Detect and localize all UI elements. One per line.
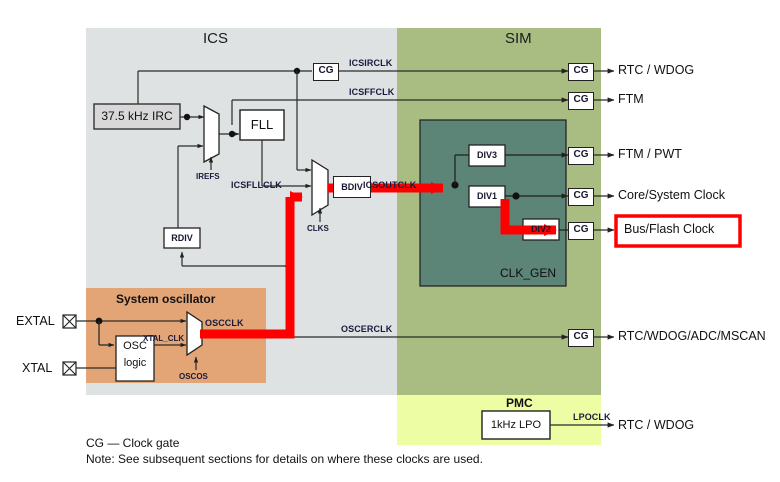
block-label-fll: FLL — [240, 110, 284, 140]
signal-label-icsirclk: ICSIRCLK — [349, 58, 392, 68]
clock-gate-icsirclk-source[interactable]: CG — [313, 63, 339, 81]
clock-gate-ftm-pwt[interactable]: CG — [568, 147, 594, 165]
clock-gate-rtc-wdog[interactable]: CG — [568, 63, 594, 81]
clock-diagram: CG CG CG CG CG CG CG ICS SIM PMC System … — [0, 0, 780, 482]
pin-label-extal: EXTAL — [16, 314, 55, 328]
footer-note: Note: See subsequent sections for detail… — [86, 452, 483, 466]
signal-label-icsoutclk: ICSOUTCLK — [363, 180, 416, 190]
clock-gate-rtc-wdog-adc-mscan[interactable]: CG — [568, 329, 594, 347]
signal-label-oscclk: OSCCLK — [205, 318, 244, 328]
mux-irefs — [204, 106, 219, 162]
region-title-ics: ICS — [203, 30, 228, 47]
signal-label-lpoclk: LPOCLK — [573, 412, 611, 422]
mux-select-label-irefs: IREFS — [196, 172, 220, 181]
pin-label-xtal: XTAL — [22, 361, 52, 375]
dest-pmc-rtc-wdog: RTC / WDOG — [618, 418, 694, 432]
block-label-div1: DIV1 — [469, 186, 505, 207]
signal-label-oscerclk: OSCERCLK — [341, 324, 392, 334]
mux-clks — [312, 160, 328, 215]
clock-gate-ftm[interactable]: CG — [568, 92, 594, 110]
block-label-lpo: 1kHz LPO — [482, 411, 550, 439]
region-title-clk-gen: CLK_GEN — [500, 266, 556, 280]
dest-rtc-wdog: RTC / WDOG — [618, 63, 694, 77]
block-label-div2: DIV2 — [523, 219, 559, 240]
clock-gate-core-system[interactable]: CG — [568, 188, 594, 206]
dest-bus-flash-clock: Bus/Flash Clock — [624, 222, 714, 236]
dest-ftm: FTM — [618, 92, 644, 106]
region-title-pmc: PMC — [506, 396, 533, 410]
mux-select-label-oscos: OSCOS — [179, 372, 208, 381]
footer-legend: CG — Clock gate — [86, 436, 179, 450]
dest-rtc-wdog-adc-mscan: RTC/WDOG/ADC/MSCAN — [618, 329, 766, 343]
clock-gate-bus-flash[interactable]: CG — [568, 222, 594, 240]
dest-core-system-clock: Core/System Clock — [618, 188, 725, 202]
signal-label-icsfllclk: ICSFLLCLK — [231, 180, 282, 190]
signal-label-icsffclk: ICSFFCLK — [349, 87, 394, 97]
block-label-div3: DIV3 — [469, 145, 505, 166]
dest-ftm-pwt: FTM / PWT — [618, 147, 682, 161]
region-title-sim: SIM — [505, 30, 532, 47]
block-label-rdiv: RDIV — [164, 228, 200, 248]
block-label-osc-logic-line2: logic — [116, 357, 154, 369]
block-label-irc: 37.5 kHz IRC — [94, 104, 180, 129]
signal-label-xtal-clk: XTAL_CLK — [143, 334, 184, 343]
region-title-system-oscillator: System oscillator — [116, 292, 215, 306]
mux-select-label-clks: CLKS — [307, 224, 329, 233]
